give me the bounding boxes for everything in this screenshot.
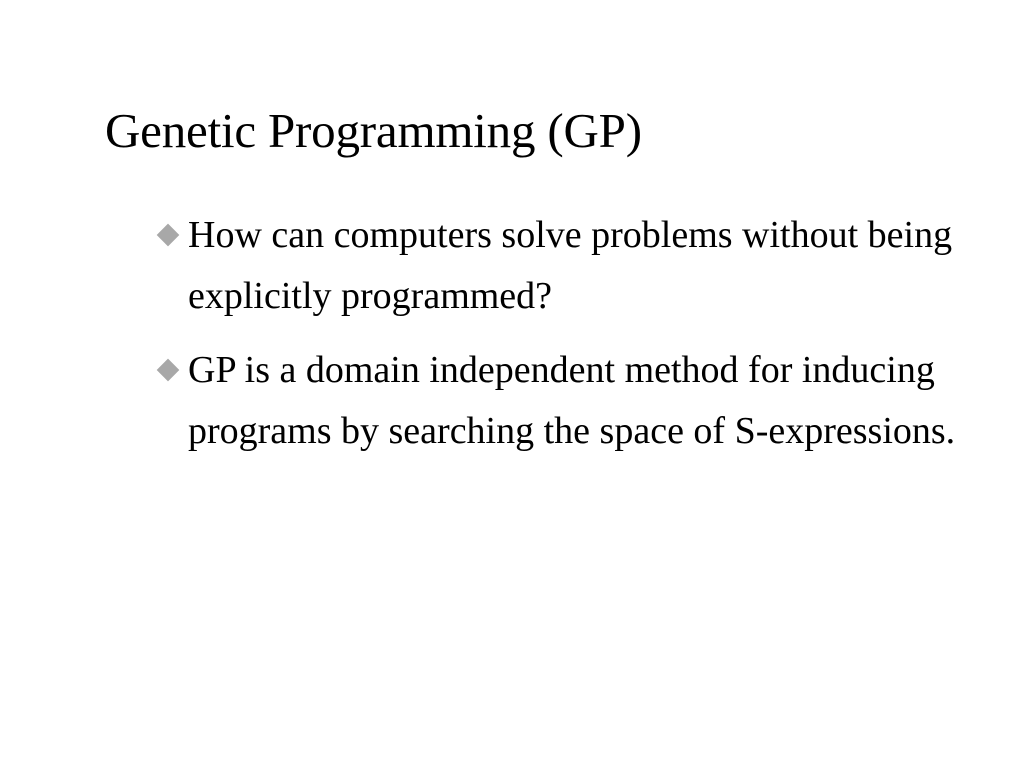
slide-body-content: How can computers solve problems without… [158, 205, 958, 462]
diamond-bullet-icon [157, 359, 180, 382]
list-item-text: GP is a domain independent method for in… [188, 340, 958, 462]
list-item-text: How can computers solve problems without… [188, 205, 958, 327]
presentation-slide: Genetic Programming (GP) How can compute… [0, 0, 1024, 768]
list-item: How can computers solve problems without… [158, 205, 958, 327]
diamond-bullet-icon [157, 224, 180, 247]
page-title: Genetic Programming (GP) [105, 101, 965, 161]
list-item: GP is a domain independent method for in… [158, 340, 958, 462]
